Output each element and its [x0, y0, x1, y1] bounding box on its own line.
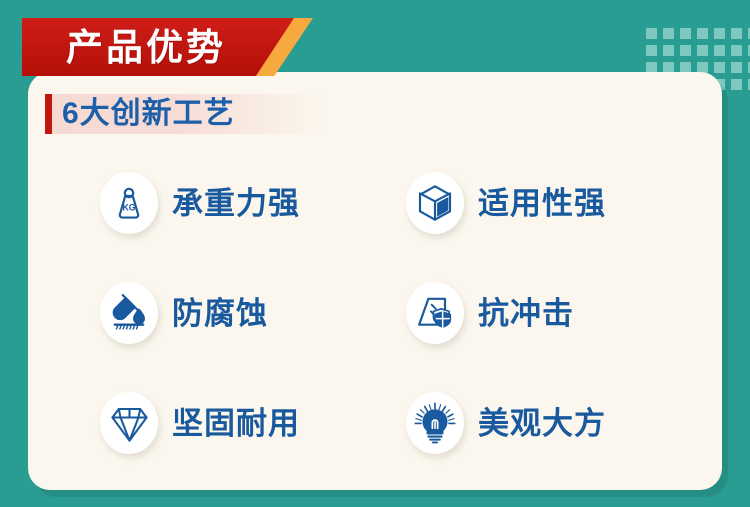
dot-square — [714, 28, 725, 39]
dot-square — [714, 45, 725, 56]
dot-square — [646, 28, 657, 39]
feature-item: 适用性强 — [406, 148, 712, 258]
dot-square — [731, 45, 742, 56]
cube-box-icon — [406, 172, 464, 234]
subtitle-red-bar — [45, 94, 52, 134]
feature-label: 美观大方 — [478, 408, 606, 439]
dot-square — [663, 28, 674, 39]
feature-item: 美观大方 — [406, 368, 712, 478]
dot-square — [731, 62, 742, 73]
weight-kg-icon: KG — [100, 172, 158, 234]
feature-label: 坚固耐用 — [172, 408, 300, 439]
feature-item: 坚固耐用 — [100, 368, 406, 478]
page-title: 产品优势 — [22, 18, 270, 76]
lightbulb-icon — [406, 392, 464, 454]
dot-square — [731, 28, 742, 39]
diamond-icon — [100, 392, 158, 454]
feature-item: KG 承重力强 — [100, 148, 406, 258]
subtitle-text: 6大创新工艺 — [62, 99, 235, 129]
dot-square — [697, 28, 708, 39]
dot-square — [697, 45, 708, 56]
feature-item: 抗冲击 — [406, 258, 712, 368]
feature-label: 抗冲击 — [478, 298, 574, 329]
svg-text:KG: KG — [122, 203, 135, 213]
dot-square — [646, 45, 657, 56]
dot-square — [731, 79, 742, 90]
dot-square — [663, 45, 674, 56]
panel-shield-icon — [406, 282, 464, 344]
dot-square — [680, 45, 691, 56]
test-tube-droplet-icon — [100, 282, 158, 344]
dot-square — [680, 28, 691, 39]
feature-label: 适用性强 — [478, 188, 606, 219]
product-advantages-poster: 产品优势 6大创新工艺 KG 承重力强 — [0, 0, 750, 507]
subtitle-row: 6大创新工艺 — [45, 92, 235, 136]
feature-grid: KG 承重力强 适用性强 — [28, 148, 722, 478]
dot-square — [714, 62, 725, 73]
feature-label: 防腐蚀 — [172, 298, 268, 329]
feature-label: 承重力强 — [172, 188, 300, 219]
feature-item: 防腐蚀 — [100, 258, 406, 368]
